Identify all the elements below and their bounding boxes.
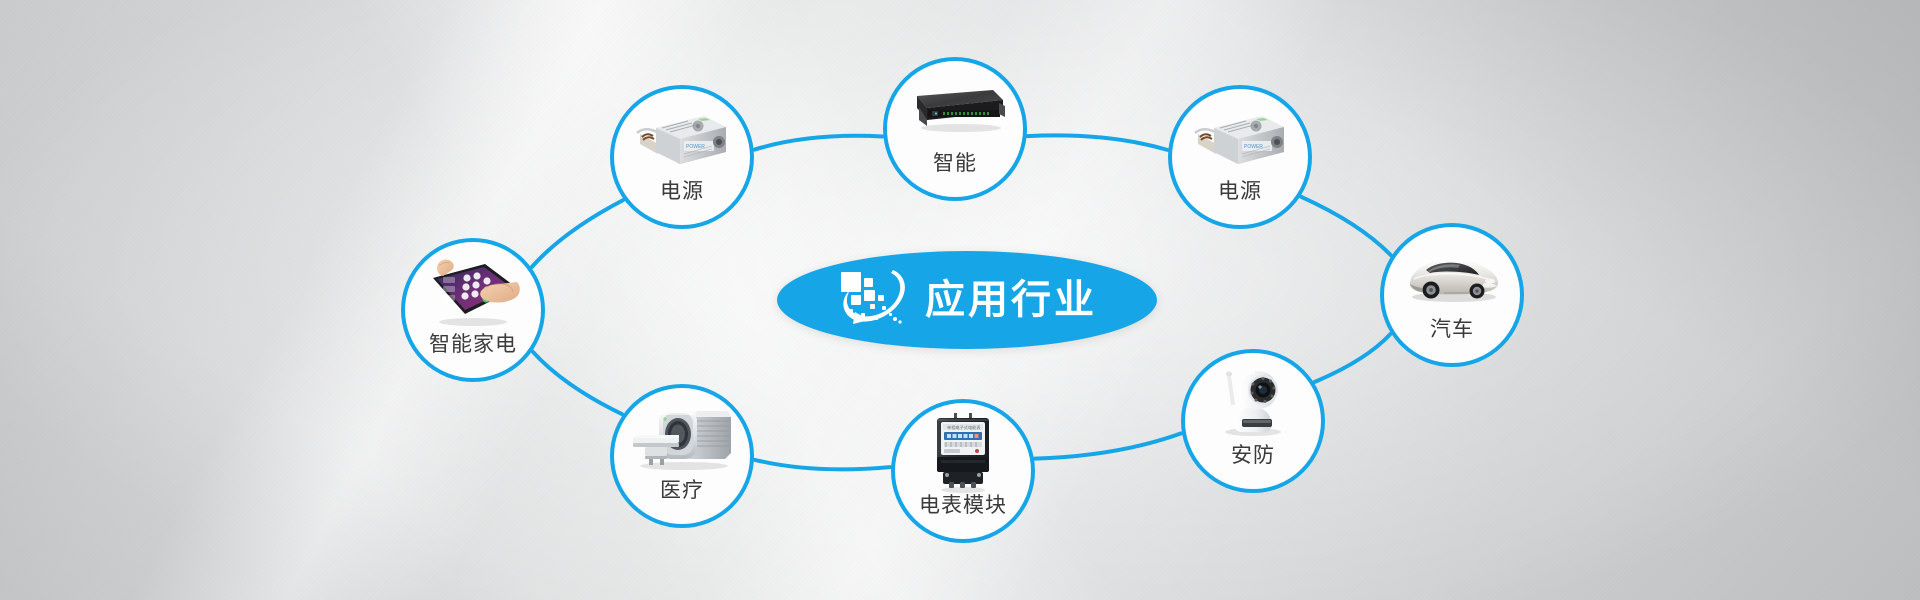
tablet-touch-control-icon [405,250,541,334]
connector-smart-to-power-top-right [1028,135,1168,149]
connector-meter-module-to-medical [755,460,890,469]
sports-car-icon [1384,235,1520,319]
industry-node-power-top-right[interactable]: POWER 电源 [1168,85,1312,229]
industry-node-label: 电源 [660,181,704,202]
industry-node-medical[interactable]: 医疗 [610,384,754,528]
ip-security-camera-icon [1185,361,1321,445]
industry-node-label: 电源 [1218,181,1262,202]
connector-power-top-left-to-smart [755,136,883,150]
connector-security-to-meter-module [1035,433,1181,458]
electric-meter-icon: 单相电子式电能表 [895,411,1031,495]
industry-node-meter-module[interactable]: 单相电子式电能表 [891,399,1035,543]
application-industries-banner: POWER 电源 [0,0,1920,600]
industry-node-label: 智能家电 [429,334,517,355]
industry-node-automotive[interactable]: 汽车 [1380,223,1524,367]
industry-node-label: 汽车 [1430,319,1474,340]
badge-title: 应用行业 [925,280,1097,320]
industry-node-smart-home[interactable]: 智能家电 [401,238,545,382]
industry-node-security[interactable]: 安防 [1181,349,1325,493]
connector-medical-to-smart-home [533,352,622,414]
industry-node-power-top-left[interactable]: POWER 电源 [610,85,754,229]
center-badge: 应用行业 [777,251,1157,349]
mri-ct-scanner-icon [614,396,750,480]
psu-power-supply-icon: POWER [1172,97,1308,181]
industry-node-smart[interactable]: 智能 [883,57,1027,201]
rack-server-icon [887,69,1023,153]
industry-node-label: 智能 [933,153,977,174]
connector-smart-home-to-power-top-left [532,200,623,267]
psu-power-supply-icon: POWER [614,97,750,181]
industry-node-label: 电表模块 [919,495,1007,516]
industry-node-label: 医疗 [660,480,704,501]
svg-text:单相电子式电能表: 单相电子式电能表 [947,424,981,431]
orbit-pixel-swoosh-icon [837,266,911,334]
connector-power-top-right-to-automotive [1301,197,1391,255]
industry-node-label: 安防 [1231,445,1275,466]
connector-automotive-to-security [1315,334,1391,382]
